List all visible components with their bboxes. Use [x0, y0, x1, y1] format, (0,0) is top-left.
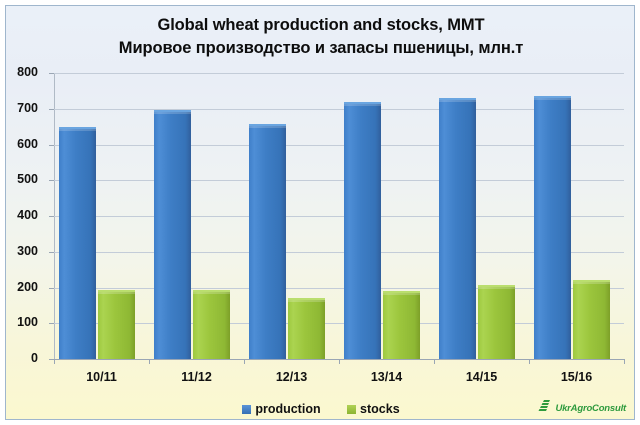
chart-title: Global wheat production and stocks, MMT …: [6, 14, 635, 60]
bar-production-13-14[interactable]: [344, 102, 381, 359]
logo-text: UkrAgroConsult: [555, 403, 626, 414]
legend-swatch-stocks-icon: [347, 405, 356, 414]
chart-title-line-russian: Мировое производство и запасы пшеницы, м…: [6, 37, 635, 60]
bar-production-12-13[interactable]: [249, 124, 286, 359]
y-axis-tick-500: [49, 180, 54, 181]
y-axis-label-800: 800: [5, 65, 38, 79]
legend-label-stocks: stocks: [360, 402, 400, 416]
y-axis-label-700: 700: [5, 101, 38, 115]
y-axis-label-200: 200: [5, 280, 38, 294]
y-axis-tick-200: [49, 288, 54, 289]
legend-label-production: production: [255, 402, 320, 416]
bar-production-14-15[interactable]: [439, 98, 476, 359]
y-axis-tick-400: [49, 216, 54, 217]
x-axis-tick-4: [434, 359, 435, 364]
wheat-flag-logo-icon: [537, 399, 553, 418]
bar-group-10-11: [54, 73, 149, 359]
bar-group-11-12: [149, 73, 244, 359]
x-axis-tick-3: [339, 359, 340, 364]
x-axis-tick-0: [54, 359, 55, 364]
bar-group-14-15: [434, 73, 529, 359]
x-axis-label-10-11: 10/11: [54, 370, 149, 384]
chart-title-line-english: Global wheat production and stocks, MMT: [6, 14, 635, 37]
y-axis-label-400: 400: [5, 208, 38, 222]
y-axis-tick-800: [49, 73, 54, 74]
y-axis-tick-100: [49, 323, 54, 324]
bar-production-11-12[interactable]: [154, 110, 191, 359]
x-axis-label-14-15: 14/15: [434, 370, 529, 384]
y-axis-label-600: 600: [5, 137, 38, 151]
bar-stocks-15-16[interactable]: [573, 280, 610, 359]
x-axis-tick-end: [624, 359, 625, 364]
y-axis-label-500: 500: [5, 172, 38, 186]
bar-stocks-14-15[interactable]: [478, 285, 515, 359]
x-axis-tick-2: [244, 359, 245, 364]
y-axis-label-0: 0: [5, 351, 38, 365]
x-axis-label-15-16: 15/16: [529, 370, 624, 384]
bar-group-15-16: [529, 73, 624, 359]
plot-area: [54, 73, 624, 359]
y-axis-label-300: 300: [5, 244, 38, 258]
bar-production-10-11[interactable]: [59, 127, 96, 359]
legend-item-production[interactable]: production: [242, 402, 320, 416]
bar-stocks-10-11[interactable]: [98, 290, 135, 359]
x-axis-label-11-12: 11/12: [149, 370, 244, 384]
bar-stocks-11-12[interactable]: [193, 290, 230, 359]
y-axis-tick-600: [49, 145, 54, 146]
legend-swatch-production-icon: [242, 405, 251, 414]
x-axis-label-12-13: 12/13: [244, 370, 339, 384]
y-axis-tick-700: [49, 109, 54, 110]
x-axis-tick-1: [149, 359, 150, 364]
legend-item-stocks[interactable]: stocks: [347, 402, 400, 416]
x-axis-label-13-14: 13/14: [339, 370, 434, 384]
bar-stocks-13-14[interactable]: [383, 291, 420, 359]
bar-group-13-14: [339, 73, 434, 359]
ukragroconsult-logo[interactable]: UkrAgroConsult: [537, 398, 626, 418]
bar-production-15-16[interactable]: [534, 96, 571, 359]
x-axis-tick-5: [529, 359, 530, 364]
y-axis-label-100: 100: [5, 315, 38, 329]
chart-frame: Global wheat production and stocks, MMT …: [5, 5, 635, 420]
y-axis-tick-300: [49, 252, 54, 253]
bar-group-12-13: [244, 73, 339, 359]
bar-stocks-12-13[interactable]: [288, 298, 325, 359]
